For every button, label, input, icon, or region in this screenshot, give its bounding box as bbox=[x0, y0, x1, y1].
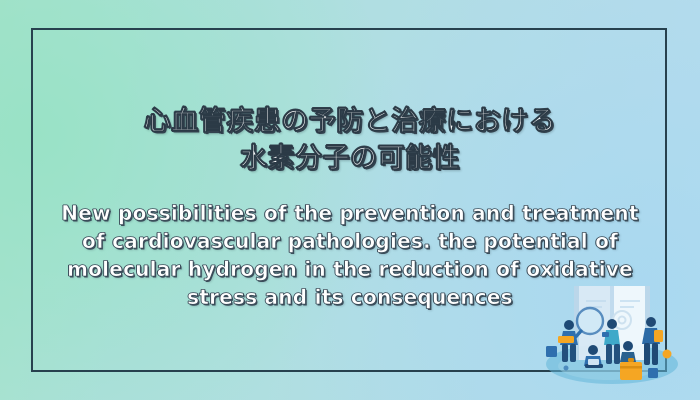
page-subtitle-english: New possibilities of the prevention and … bbox=[37, 199, 663, 311]
subtitle-english-line-3: molecular hydrogen in the reduction of o… bbox=[37, 255, 663, 283]
title-japanese-line-1: 心血管疾患の予防と治療における bbox=[50, 103, 650, 140]
page-title-japanese: 心血管疾患の予防と治療における 水素分子の可能性 bbox=[50, 103, 650, 177]
subtitle-english-line-2: of cardiovascular pathologies. the poten… bbox=[37, 227, 663, 255]
title-slide: 心血管疾患の予防と治療における 水素分子の可能性 New possibiliti… bbox=[0, 0, 700, 400]
subtitle-english-line-4: stress and its consequences bbox=[37, 283, 663, 311]
subtitle-english-line-1: New possibilities of the prevention and … bbox=[37, 199, 663, 227]
title-japanese-line-2: 水素分子の可能性 bbox=[50, 140, 650, 177]
slide-content: 心血管疾患の予防と治療における 水素分子の可能性 New possibiliti… bbox=[0, 0, 700, 400]
